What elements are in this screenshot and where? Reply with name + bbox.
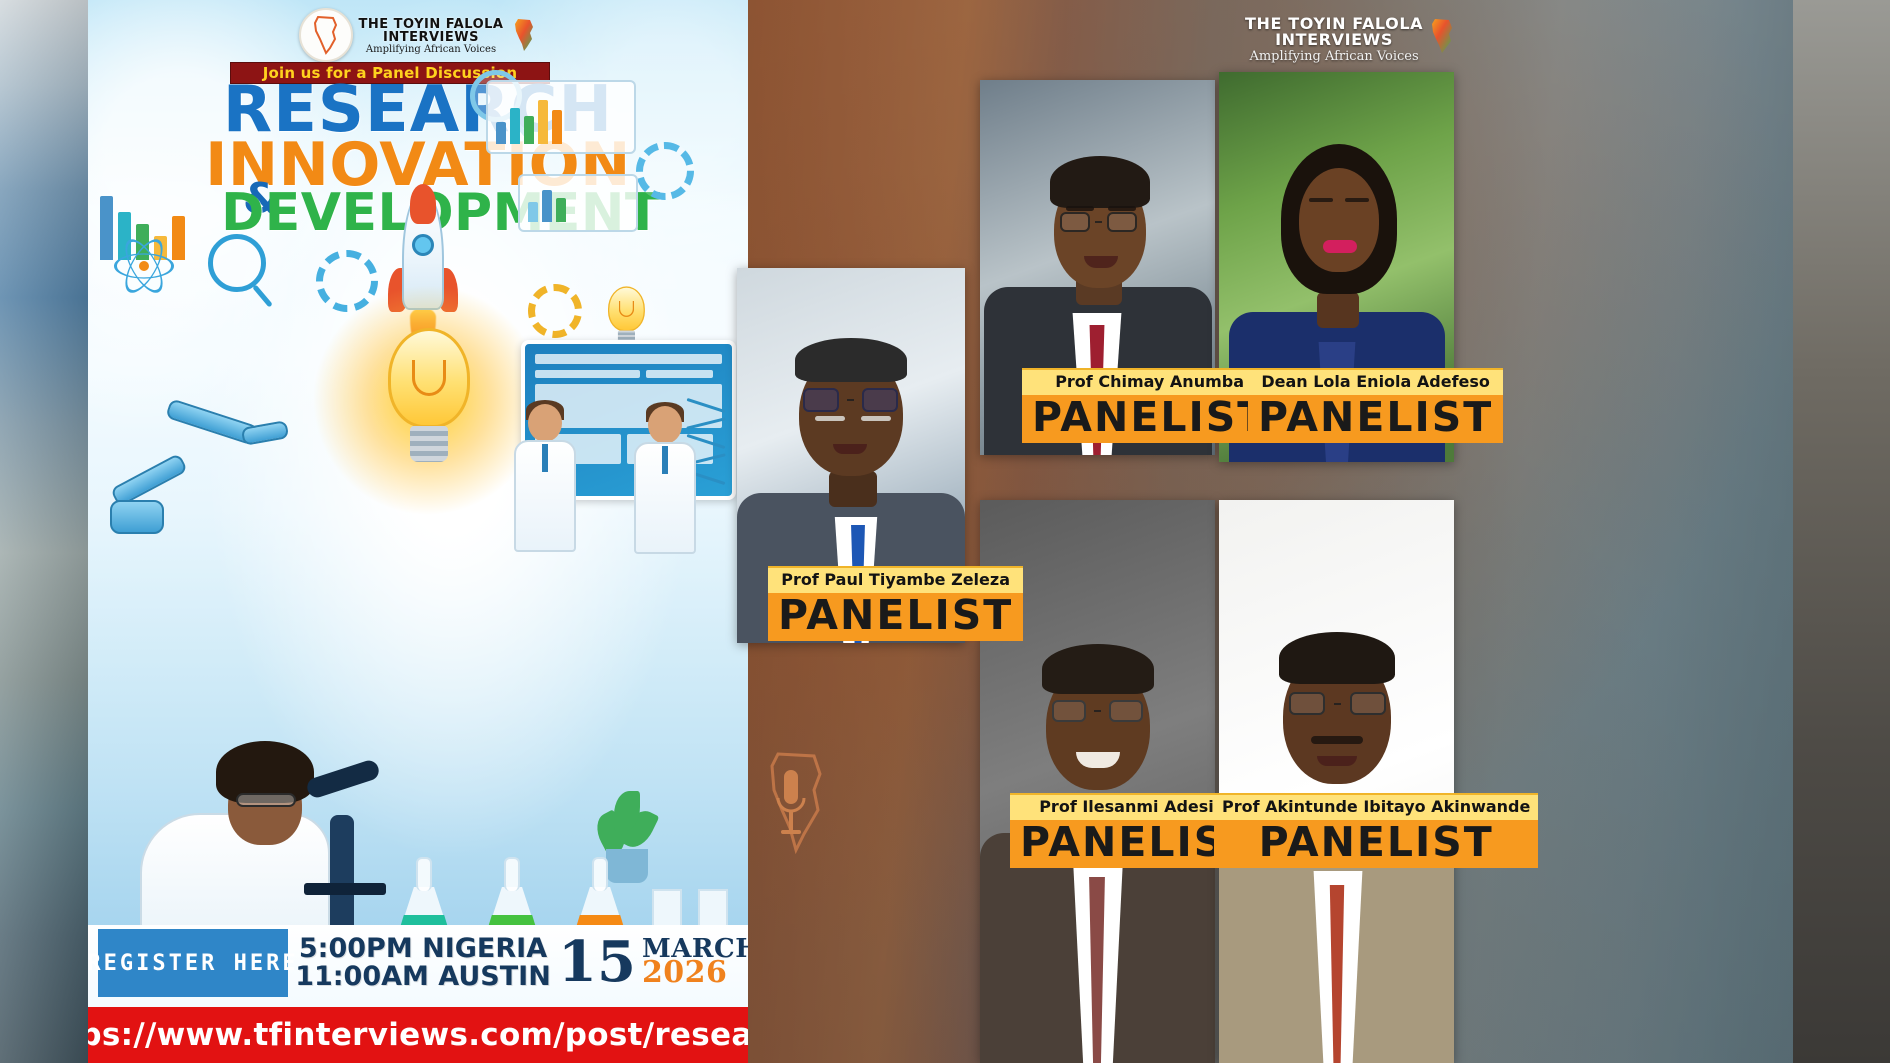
registration-url-bar[interactable]: https://www.tfinterviews.com/post/resear…: [88, 1007, 748, 1063]
chart-card-graphic: [486, 80, 636, 154]
lightbulb-icon: [368, 320, 488, 490]
panelist-name: Prof Paul Tiyambe Zeleza: [768, 566, 1023, 593]
poster-illustration: [88, 200, 748, 923]
microscope-icon: [284, 769, 404, 949]
event-date-month-year: MARCH 2026: [642, 936, 748, 988]
registration-url: https://www.tfinterviews.com/post/resear…: [88, 1017, 748, 1053]
africa-map-icon: [299, 8, 353, 62]
logo-tagline: Amplifying African Voices: [359, 45, 504, 55]
magnifier-icon: [208, 234, 266, 292]
event-poster: THE TOYIN FALOLA INTERVIEWS Amplifying A…: [88, 0, 748, 1063]
panelist-role: PANELIST: [1214, 820, 1538, 869]
register-here-label: REGISTER HERE: [88, 951, 299, 976]
logo-line-2: INTERVIEWS: [359, 31, 504, 44]
panelist-role: PANELIST: [768, 593, 1023, 642]
register-here-button[interactable]: REGISTER HERE: [98, 929, 288, 997]
right-logo-wordmark: THE TOYIN FALOLA INTERVIEWS Amplifying A…: [1245, 16, 1423, 63]
blurred-backdrop-left-strip: [0, 0, 96, 1063]
gear-icon-orange: [528, 284, 582, 338]
panelist-tag-paul-tiyambe-zeleza: Prof Paul Tiyambe Zeleza PANELIST: [768, 566, 1023, 641]
panelist-photo-akintunde-ibitayo-akinwande: [1219, 500, 1454, 1063]
panelist-name: Prof Akintunde Ibitayo Akinwande: [1214, 793, 1538, 820]
time-nigeria: 5:00PM NIGERIA: [299, 935, 547, 963]
scientist-male-tablet: [508, 404, 582, 554]
panelist-name: Dean Lola Eniola Adefeso: [1248, 368, 1503, 395]
event-date: 15 MARCH 2026: [558, 925, 748, 1007]
panelist-tag-chimay-anumba: Prof Chimay Anumba PANELIST: [1022, 368, 1277, 443]
robot-arm-graphic: [110, 350, 300, 550]
africa-flag-icon: [1427, 18, 1457, 54]
right-logo-tagline: Amplifying African Voices: [1245, 50, 1423, 63]
poster-info-bar: REGISTER HERE 5:00PM NIGERIA 11:00AM AUS…: [88, 925, 748, 1007]
atom-icon: [114, 236, 174, 296]
panelist-role: PANELIST: [1248, 395, 1503, 444]
blurred-backdrop-far-right: [1793, 0, 1890, 1063]
panelist-name: Prof Chimay Anumba: [1022, 368, 1277, 395]
logo-line-1: THE TOYIN FALOLA: [359, 18, 504, 31]
panelist-role: PANELIST: [1022, 395, 1277, 444]
right-panel-logo: THE TOYIN FALOLA INTERVIEWS Amplifying A…: [1245, 16, 1457, 63]
panelist-tag-lola-eniola-adefeso: Dean Lola Eniola Adefeso PANELIST: [1248, 368, 1503, 443]
poster-screenshot: THE TOYIN FALOLA INTERVIEWS Amplifying A…: [0, 0, 1890, 1063]
africa-flag-icon: [511, 18, 537, 52]
gear-icon-top: [636, 142, 694, 200]
chart-card-graphic-2: [518, 174, 638, 232]
scientist-male-standing: [628, 406, 702, 556]
microphone-africa-icon: [758, 750, 830, 854]
time-austin: 11:00AM AUSTIN: [295, 963, 551, 991]
right-logo-line-2: INTERVIEWS: [1245, 32, 1423, 48]
poster-logo-wordmark: THE TOYIN FALOLA INTERVIEWS Amplifying A…: [359, 16, 504, 55]
event-times: 5:00PM NIGERIA 11:00AM AUSTIN: [288, 925, 558, 1007]
event-date-day: 15: [558, 937, 636, 987]
poster-logo: THE TOYIN FALOLA INTERVIEWS Amplifying A…: [88, 8, 748, 62]
panelist-tag-akintunde-ibitayo-akinwande: Prof Akintunde Ibitayo Akinwande PANELIS…: [1214, 793, 1538, 868]
